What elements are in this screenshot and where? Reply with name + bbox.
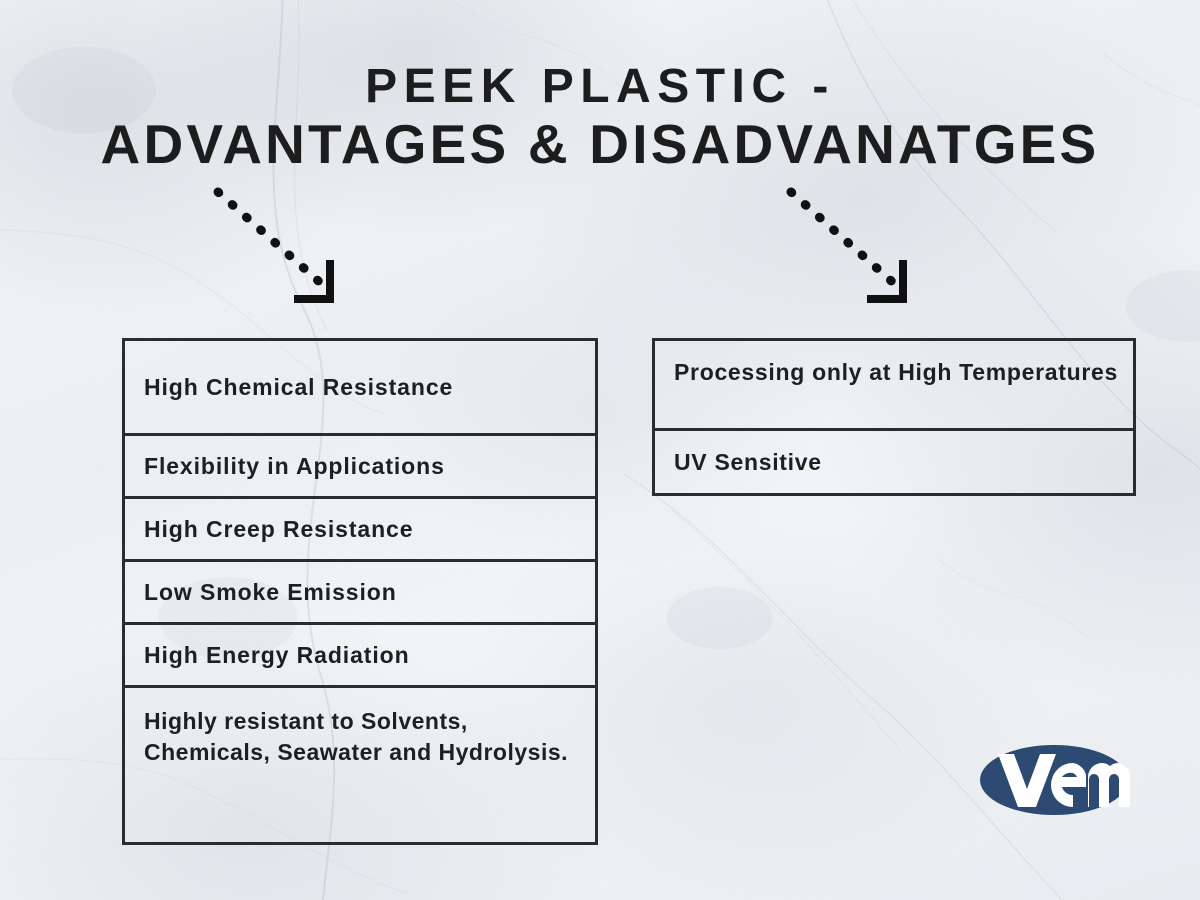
advantages-list: High Chemical Resistance Flexibility in … bbox=[122, 338, 598, 845]
list-item-label: Highly resistant to Solvents, Chemicals,… bbox=[144, 706, 595, 767]
list-item[interactable]: Low Smoke Emission bbox=[125, 562, 595, 625]
list-item[interactable]: UV Sensitive bbox=[655, 431, 1133, 493]
list-item[interactable]: High Chemical Resistance bbox=[125, 341, 595, 436]
list-item-label: UV Sensitive bbox=[674, 449, 822, 476]
slide-title: PEEK PLASTIC - ADVANTAGES & DISADVANATGE… bbox=[0, 62, 1200, 176]
slide-canvas: PEEK PLASTIC - ADVANTAGES & DISADVANATGE… bbox=[0, 0, 1200, 900]
list-item-label: High Creep Resistance bbox=[144, 516, 413, 543]
list-item[interactable]: Processing only at High Temperatures bbox=[655, 341, 1133, 431]
list-item-label: Low Smoke Emission bbox=[144, 579, 397, 606]
list-item[interactable]: Flexibility in Applications bbox=[125, 436, 595, 499]
list-item[interactable]: High Energy Radiation bbox=[125, 625, 595, 688]
vem-logo bbox=[978, 737, 1130, 822]
disadvantages-list: Processing only at High Temperatures UV … bbox=[652, 338, 1136, 496]
title-line-1: PEEK PLASTIC - bbox=[0, 62, 1200, 112]
list-item-label: Flexibility in Applications bbox=[144, 453, 445, 480]
list-item[interactable]: High Creep Resistance bbox=[125, 499, 595, 562]
dotted-arrow-to-disadvantages-icon bbox=[785, 186, 935, 316]
title-line-2: ADVANTAGES & DISADVANATGES bbox=[0, 114, 1200, 176]
list-item-label: High Energy Radiation bbox=[144, 642, 410, 669]
list-item-label: Processing only at High Temperatures bbox=[674, 358, 1118, 388]
dotted-arrow-to-advantages-icon bbox=[212, 186, 362, 316]
list-item-label: High Chemical Resistance bbox=[144, 374, 453, 401]
list-item[interactable]: Highly resistant to Solvents, Chemicals,… bbox=[125, 688, 595, 837]
